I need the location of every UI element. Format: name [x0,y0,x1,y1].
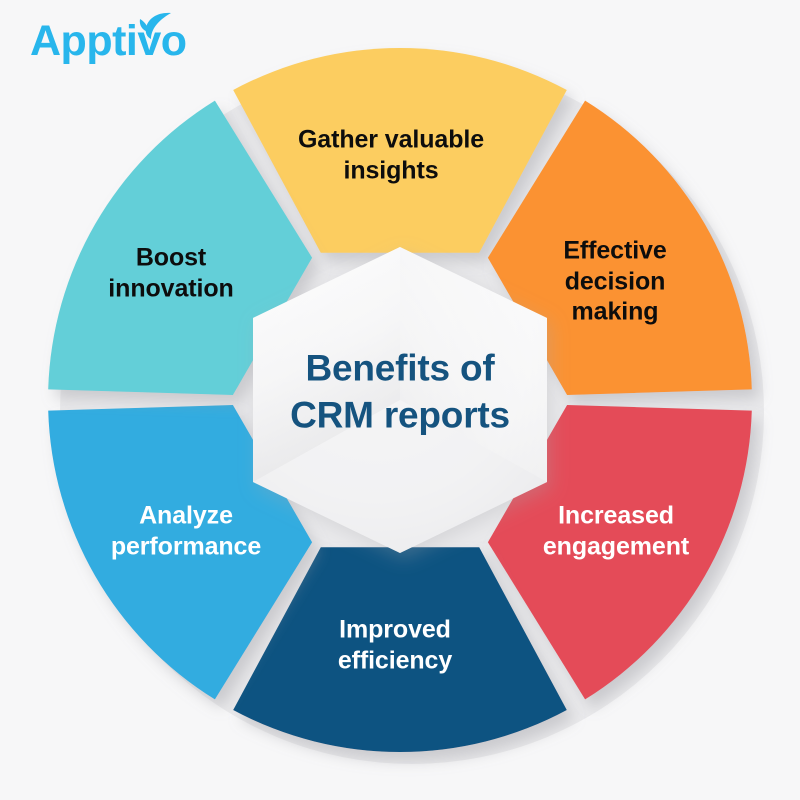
benefits-wheel [0,0,800,800]
apptivo-wordmark: Apptivo [30,20,187,63]
infographic-canvas: Apptivo Gather valuable insights Effecti… [0,0,800,800]
apptivo-logo[interactable]: Apptivo [30,14,230,76]
